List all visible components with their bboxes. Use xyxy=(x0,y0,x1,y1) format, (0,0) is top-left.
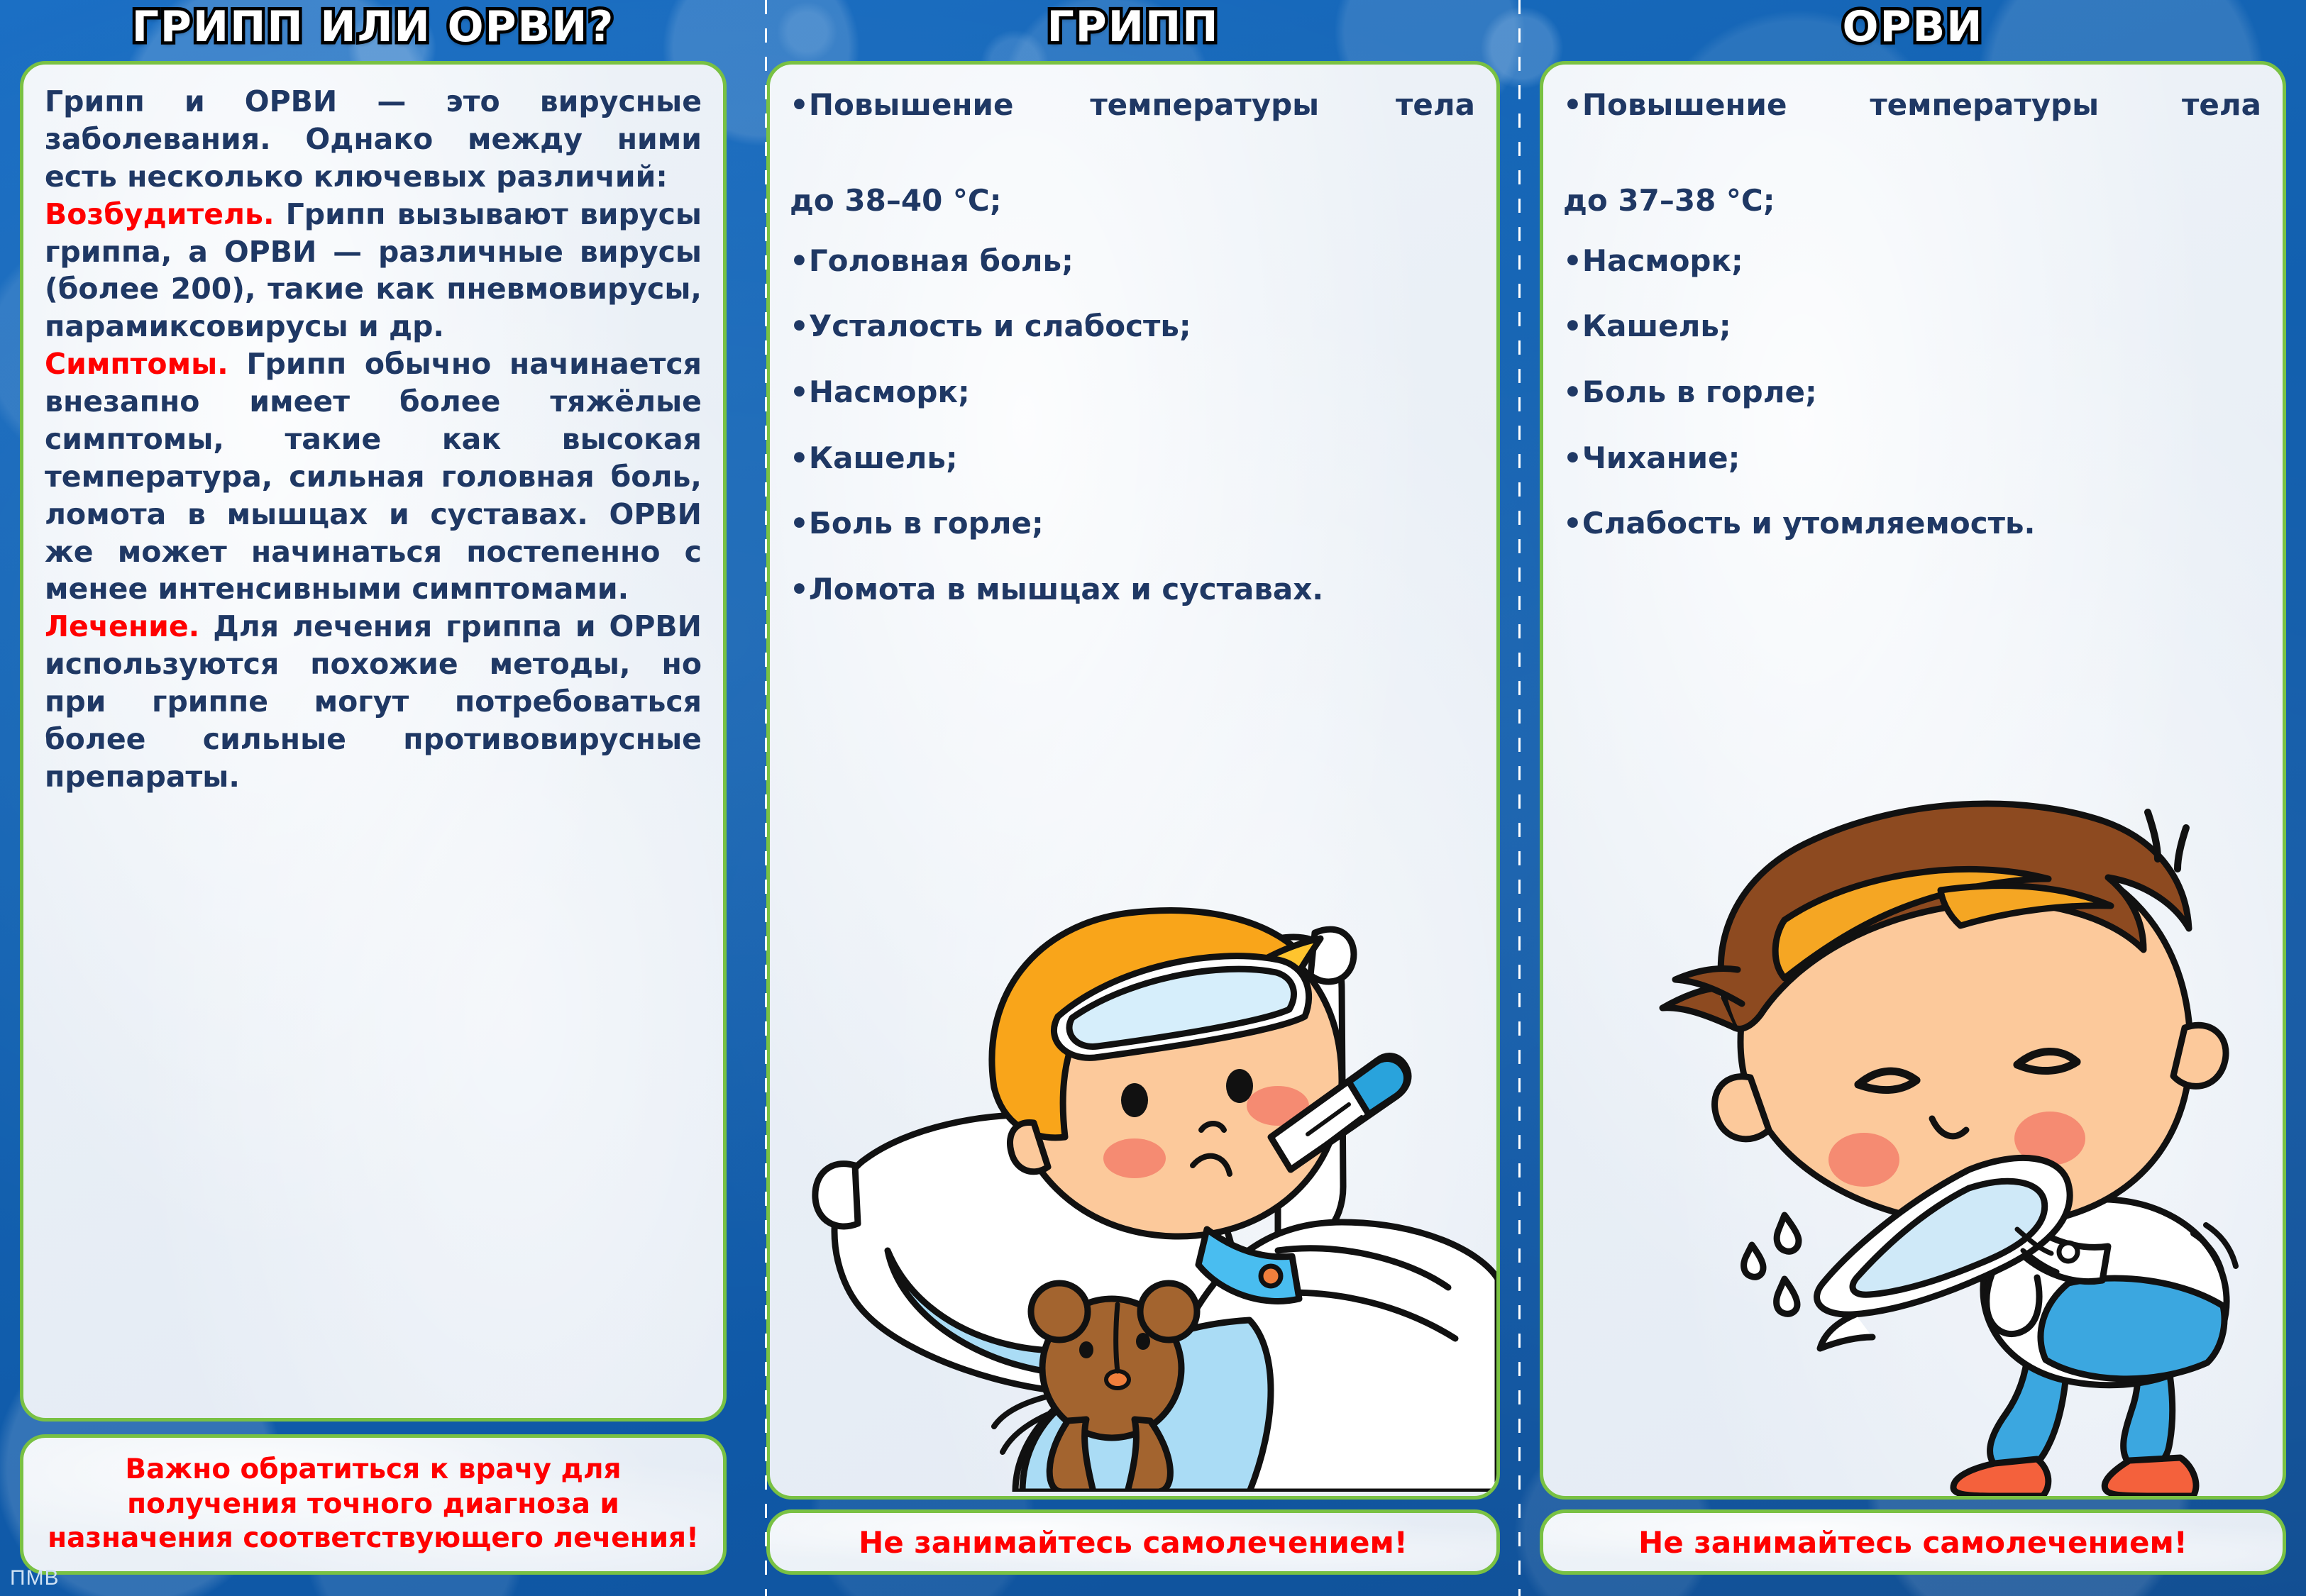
list-item: •Повышение температуры тела до 37–38 °C; xyxy=(1563,86,2261,221)
panel-ari: ОРВИ •Повышение температуры тела до 37–3… xyxy=(1520,0,2306,1596)
flu-symptom-list: •Повышение температуры тела до 38–40 °C;… xyxy=(770,65,1496,609)
panel-flu: ГРИПП •Повышение температуры тела до 38–… xyxy=(746,0,1520,1596)
ari-symptom-2: •Кашель; xyxy=(1563,309,1731,343)
comparison-warning-card: Важно обратиться к врачу для получения т… xyxy=(20,1434,727,1575)
list-item: •Слабость и утомляемость. xyxy=(1563,504,2261,543)
ari-symptom-4: •Чихание; xyxy=(1563,440,1740,475)
flu-symptom-5: •Боль в горле; xyxy=(790,506,1044,541)
watermark: ПМВ xyxy=(10,1566,60,1590)
list-item: •Головная боль; xyxy=(790,242,1475,281)
comparison-card: Грипп и ОРВИ — это вирусные заболевания.… xyxy=(20,61,727,1422)
ari-warning-card: Не занимайтесь самолечением! xyxy=(1540,1509,2286,1575)
list-item: •Насморк; xyxy=(790,373,1475,412)
panel-comparison: ГРИПП ИЛИ ОРВИ? Грипп и ОРВИ — это вирус… xyxy=(0,0,746,1596)
paragraph-intro: Грипп и ОРВИ — это вирусные заболевания.… xyxy=(45,84,702,194)
sneezing-boy-illustration xyxy=(1572,744,2286,1496)
flu-warning-card: Не занимайтесь самолечением! xyxy=(766,1509,1500,1575)
list-item: •Кашель; xyxy=(790,439,1475,478)
list-item: •Ломота в мышцах и суставах. xyxy=(790,570,1475,609)
panel-comparison-header: ГРИПП ИЛИ ОРВИ? xyxy=(0,0,746,54)
panel-ari-header: ОРВИ xyxy=(1520,0,2306,54)
flu-symptom-6: •Ломота в мышцах и суставах. xyxy=(790,572,1323,606)
list-item: •Повышение температуры тела до 38–40 °C; xyxy=(790,86,1475,221)
poster: ГРИПП ИЛИ ОРВИ? Грипп и ОРВИ — это вирус… xyxy=(0,0,2306,1596)
keyword-treatment: Лечение. xyxy=(45,609,199,643)
panel-separator-1 xyxy=(765,0,767,1596)
flu-symptom-0-lead: •Повышение температуры тела xyxy=(790,86,1475,163)
flu-symptom-2: •Усталость и слабость; xyxy=(790,309,1191,343)
panel-ari-title: ОРВИ xyxy=(1843,2,1984,52)
flu-warning-text: Не занимайтесь самолечением! xyxy=(859,1525,1408,1560)
paragraph-symptoms: Грипп обычно начинается внезапно имеет б… xyxy=(45,347,702,606)
ari-card: •Повышение температуры тела до 37–38 °C;… xyxy=(1540,61,2286,1500)
ari-symptom-list: •Повышение температуры тела до 37–38 °C;… xyxy=(1543,65,2283,543)
comparison-body: Грипп и ОРВИ — это вирусные заболевания.… xyxy=(23,65,723,803)
panel-flu-header: ГРИПП xyxy=(746,0,1520,54)
ari-warning-text: Не занимайтесь самолечением! xyxy=(1638,1525,2188,1560)
keyword-symptoms: Симптомы. xyxy=(45,347,228,381)
ari-symptom-0-lead: •Повышение температуры тела xyxy=(1563,86,2261,163)
keyword-pathogen: Возбудитель. xyxy=(45,197,275,231)
panel-separator-2 xyxy=(1518,0,1521,1596)
list-item: •Насморк; xyxy=(1563,242,2261,281)
list-item: •Боль в горле; xyxy=(1563,373,2261,412)
flu-symptom-1: •Головная боль; xyxy=(790,243,1074,278)
panel-comparison-title: ГРИПП ИЛИ ОРВИ? xyxy=(132,2,615,52)
list-item: •Кашель; xyxy=(1563,307,2261,346)
ari-symptom-5: •Слабость и утомляемость. xyxy=(1563,506,2035,541)
list-item: •Боль в горле; xyxy=(790,504,1475,543)
ari-symptom-1: •Насморк; xyxy=(1563,243,1743,278)
flu-symptom-3: •Насморк; xyxy=(790,375,970,409)
sick-boy-in-bed-illustration xyxy=(781,853,1498,1492)
panel-flu-title: ГРИПП xyxy=(1047,2,1220,52)
comparison-warning-text: Важно обратиться к врачу для получения т… xyxy=(39,1453,707,1556)
list-item: •Чихание; xyxy=(1563,439,2261,478)
flu-card: •Повышение температуры тела до 38–40 °C;… xyxy=(766,61,1500,1500)
flu-symptom-4: •Кашель; xyxy=(790,440,958,475)
flu-symptom-0-cont: до 38–40 °C; xyxy=(790,182,1475,221)
ari-symptom-0-cont: до 37–38 °C; xyxy=(1563,182,2261,221)
ari-symptom-3: •Боль в горле; xyxy=(1563,375,1817,409)
list-item: •Усталость и слабость; xyxy=(790,307,1475,346)
